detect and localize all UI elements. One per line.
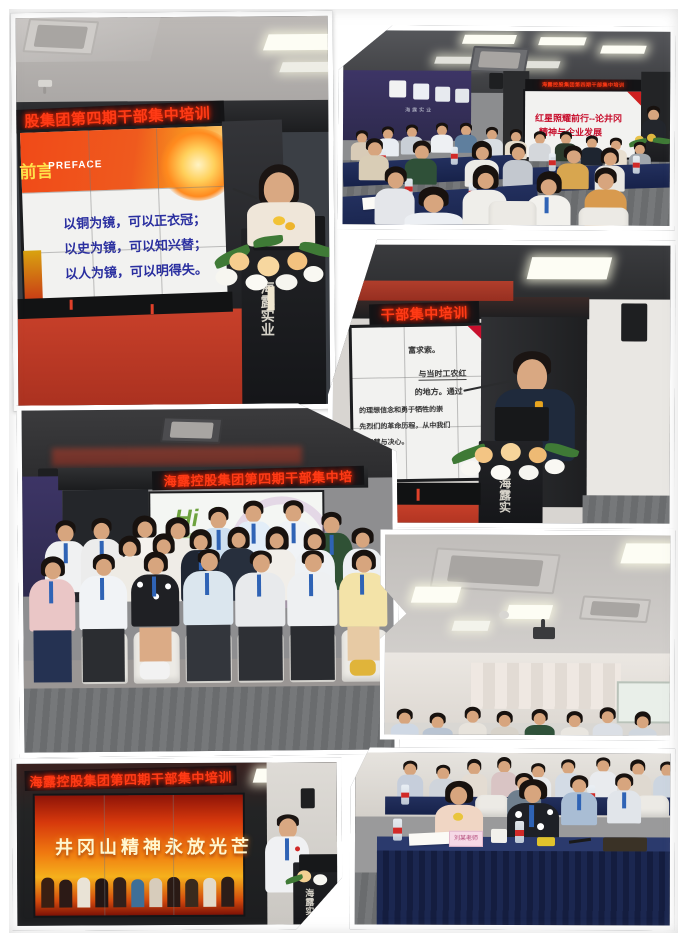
- wall-logo-plate: [413, 84, 429, 100]
- attendee-head: [569, 715, 581, 727]
- lecturer-head: [517, 359, 547, 393]
- water-bottle: [515, 821, 524, 843]
- flower-leaf: [544, 440, 579, 460]
- silhouette-person: [131, 879, 144, 907]
- flower-white: [275, 274, 297, 290]
- attendee-lanyard: [545, 197, 549, 213]
- member-lanyard: [257, 575, 261, 597]
- group-member-seated: [235, 550, 286, 680]
- projection-screen-jinggangshan: 井冈山精神永放光芒: [35, 795, 244, 916]
- stage-marker: [70, 300, 73, 310]
- attendee-head: [637, 716, 649, 728]
- attendee-head: [368, 142, 382, 156]
- led-banner-text: 海露控股集团第四期干部集中培训: [542, 81, 625, 88]
- photo-collage: 股集团第四期干部集中培训 前言 PREFACE 以铜为镜，可以正衣冠； 以史为镜…: [0, 0, 687, 942]
- photo-female-presenter: 股集团第四期干部集中培训 前言 PREFACE 以铜为镜，可以正衣冠； 以史为镜…: [16, 16, 331, 406]
- podium-flower-arrangement: [209, 234, 330, 309]
- attendee: [423, 713, 453, 736]
- wall-speaker: [621, 303, 647, 341]
- ceiling-light: [538, 37, 587, 45]
- water-bottle: [633, 156, 640, 174]
- name-plate-text: 刘某老师: [450, 832, 482, 846]
- dress-flower: [285, 222, 295, 230]
- slide-corner-flag: [627, 92, 641, 106]
- panel-top-left[interactable]: 股集团第四期干部集中培训 前言 PREFACE 以铜为镜，可以正衣冠； 以史为镜…: [11, 11, 336, 411]
- attendee-body: [491, 727, 519, 736]
- led-banner-text: 干部集中培训: [380, 302, 468, 325]
- security-camera-stem: [43, 87, 46, 94]
- phone: [537, 837, 555, 846]
- water-bottle: [401, 785, 409, 805]
- wall-logo-plate: [389, 80, 406, 97]
- wall-speaker: [489, 73, 503, 89]
- slide-line-1: 以铜为镜，可以正衣冠；: [63, 209, 207, 233]
- lecturer-pin: [295, 846, 300, 851]
- photo-classroom-audience: 海露实业 海露控股集团第四期干部集中培训 红星照耀前行--论井冈 精神与企业发展: [342, 30, 670, 226]
- attendee-body: [459, 723, 487, 736]
- panel-bottom-right[interactable]: 刘某老师: [350, 747, 676, 930]
- air-conditioner-vent: [22, 18, 99, 55]
- flower-rose: [257, 256, 279, 276]
- group-member-seated: [183, 549, 234, 681]
- member-legs: [290, 626, 334, 680]
- member-lanyard: [205, 573, 209, 595]
- silhouette-person: [77, 877, 90, 907]
- member-lanyard: [152, 576, 156, 596]
- ceiling-red-glow: [52, 446, 302, 466]
- carpet-floor: [582, 495, 670, 523]
- attendee-head: [617, 777, 631, 791]
- attendee-head: [499, 715, 511, 727]
- group-member-seated: [131, 551, 180, 681]
- silhouette-person: [185, 879, 198, 907]
- attendee-body: [561, 727, 589, 735]
- panel-top-right[interactable]: 海露实业 海露控股集团第四期干部集中培训 红星照耀前行--论井冈 精神与企业发展: [337, 25, 675, 231]
- photo-group: 海露控股集团第四期干部集中培 Hi: [22, 407, 395, 752]
- ceiling-light: [411, 587, 462, 603]
- attendee-lanyard: [622, 792, 626, 808]
- attendee-body: [391, 724, 419, 736]
- attendee-body: [629, 728, 657, 735]
- ceiling-light: [505, 605, 553, 619]
- presenter-female: [245, 164, 320, 245]
- attendee: [629, 711, 657, 735]
- group-member-seated: [29, 556, 76, 682]
- carpet-floor: [24, 679, 395, 752]
- member-head: [270, 533, 284, 548]
- member-legs: [186, 625, 230, 681]
- air-conditioner-vent: [160, 416, 223, 444]
- member-head: [253, 554, 270, 572]
- attendee: [607, 773, 641, 823]
- ceiling-light: [263, 34, 330, 51]
- member-head: [245, 506, 261, 523]
- silhouette-person: [59, 880, 72, 908]
- water-bottle: [549, 153, 556, 171]
- slide-line-2: 与当时工农红: [418, 368, 466, 381]
- chair: [488, 201, 536, 226]
- attendee-body: [404, 212, 462, 225]
- flower-white: [519, 465, 539, 480]
- led-banner-top-right: 海露控股集团第四期干部集中培训: [525, 79, 641, 91]
- photo-conference-room: [385, 535, 671, 736]
- stage-marker: [417, 489, 420, 501]
- flower-leaf: [653, 136, 671, 145]
- attendee-head: [476, 147, 489, 160]
- security-camera-icon: [499, 611, 509, 619]
- stage-marker: [151, 304, 154, 314]
- attendee-head: [388, 172, 404, 188]
- flower-rose: [475, 447, 493, 463]
- member-head: [58, 525, 74, 542]
- flower-white: [313, 874, 327, 885]
- group-member-seated: [79, 554, 128, 682]
- photo-jinggangshan-lecture: 海露控股集团第四期干部集中培训 井冈山精神永放光芒: [17, 762, 338, 926]
- chair: [578, 207, 628, 225]
- flower-white: [303, 266, 323, 282]
- member-head: [308, 534, 322, 549]
- member-legs: [33, 630, 71, 682]
- attendee: [391, 709, 419, 736]
- slide-heading-en: PREFACE: [48, 159, 103, 172]
- polka-dot: [515, 811, 522, 818]
- attendee-head: [604, 153, 617, 166]
- flower-rose: [287, 252, 307, 270]
- video-wall-screen: 前言 PREFACE 以铜为镜，可以正衣冠； 以史为镜，可以知兴替； 以人为镜，…: [20, 126, 230, 311]
- slide-title-jinggangshan: 井冈山精神永放光芒: [55, 833, 253, 860]
- member-head: [305, 554, 322, 572]
- polka-dot: [137, 582, 143, 588]
- silhouette-person: [113, 877, 126, 907]
- member-head: [194, 535, 208, 550]
- flower-ribbon: [268, 286, 275, 310]
- member-lanyard: [309, 574, 313, 596]
- podium-flower-arrangement: [451, 435, 581, 487]
- lecturer-lanyard: [285, 838, 289, 860]
- tea-cup: [491, 829, 507, 843]
- window-blinds: [471, 663, 621, 710]
- screen-seam: [404, 327, 408, 479]
- member-head: [148, 557, 164, 574]
- note-paper: [409, 832, 454, 846]
- air-conditioner-vent: [469, 46, 530, 74]
- flower-white: [461, 461, 481, 476]
- polka-dot: [165, 583, 171, 589]
- attendee: [459, 707, 487, 736]
- security-camera-icon: [38, 80, 52, 87]
- silhouette-person: [221, 877, 234, 907]
- flower-leaf: [285, 874, 304, 885]
- name-plate: 刘某老师: [449, 831, 483, 847]
- ceiling-projector: [533, 627, 555, 639]
- member-legs: [238, 626, 282, 680]
- wall-logo-plate: [435, 87, 450, 102]
- wall-red-glow: [333, 280, 513, 301]
- slide-line-3: 以人为镜，可以明得失。: [65, 258, 209, 282]
- ceiling-light: [279, 62, 330, 73]
- attendee-body: [423, 728, 453, 736]
- wall-speaker: [301, 788, 315, 808]
- member-head: [45, 562, 61, 579]
- flower-white: [491, 465, 511, 480]
- member-legs: [82, 629, 124, 682]
- attendee-body: [593, 723, 623, 735]
- ceiling-light: [527, 257, 613, 279]
- attendee-head: [534, 713, 546, 725]
- panel-bottom-left[interactable]: 海露控股集团第四期干部集中培训 井冈山精神永放光芒: [12, 757, 343, 931]
- slide-people-silhouette: [39, 875, 239, 910]
- slide-line-3: 的地方。通过: [415, 386, 463, 398]
- flower-rose: [229, 252, 249, 270]
- trainee-head: [450, 787, 467, 805]
- attendee-head: [602, 711, 614, 723]
- attendee: [525, 709, 555, 736]
- group-member-seated: [287, 550, 338, 680]
- slide-line-1: 富求索。: [408, 344, 440, 356]
- attendee-head: [572, 779, 586, 793]
- flower-leaf: [253, 235, 284, 248]
- attendee-head: [567, 150, 581, 163]
- water-bottle: [393, 819, 402, 841]
- wall-logo-caption: 海露实业: [405, 106, 433, 113]
- projector-mount: [541, 619, 545, 629]
- ceiling-light: [600, 46, 647, 54]
- silhouette-person: [95, 878, 108, 907]
- member-head: [356, 556, 372, 573]
- silhouette-person: [149, 878, 162, 907]
- attendee-head: [415, 146, 429, 160]
- flower-white: [245, 274, 267, 290]
- member-lanyard: [100, 578, 104, 600]
- member-head: [285, 505, 301, 522]
- attendee: [593, 707, 623, 735]
- podium-flowers: [285, 866, 337, 894]
- silhouette-person: [203, 878, 216, 907]
- ceiling-light: [452, 621, 491, 631]
- member-shoes: [350, 660, 376, 676]
- notebook: [603, 837, 647, 851]
- member-head: [232, 533, 246, 548]
- led-banner-mid-right: 干部集中培训: [369, 301, 480, 326]
- front-table-skirt: [377, 851, 671, 926]
- silhouette-person: [41, 878, 54, 908]
- attendee-lanyard: [577, 794, 581, 810]
- polka-dot: [547, 809, 553, 815]
- trainee-head: [524, 785, 541, 803]
- dress-flower: [273, 216, 285, 225]
- member-head: [93, 523, 109, 540]
- member-lanyard: [49, 581, 53, 603]
- attendee: [561, 711, 589, 735]
- attendee-head: [512, 147, 525, 160]
- attendee: [491, 711, 519, 736]
- attendee-head: [467, 711, 479, 723]
- attendee-head: [598, 173, 614, 189]
- water-bottle: [451, 147, 458, 165]
- member-head: [96, 559, 112, 576]
- trainee-lanyard: [529, 805, 534, 827]
- panel-group-photo[interactable]: 海露控股集团第四期干部集中培 Hi: [16, 402, 399, 757]
- attendee: [561, 775, 597, 825]
- flower-white: [545, 459, 565, 474]
- attendee-head: [541, 179, 557, 195]
- attendee-head: [424, 195, 444, 213]
- flower-rose: [501, 443, 521, 461]
- ceiling-light: [462, 35, 517, 44]
- member-legs: [139, 627, 171, 661]
- attendee-head: [478, 173, 494, 189]
- polka-dot: [537, 823, 544, 830]
- air-conditioner-vent: [579, 595, 651, 623]
- wall-logo-plate: [455, 89, 469, 103]
- member-head: [356, 533, 370, 548]
- slide-line-2: 以史为镜，可以知兴替；: [64, 233, 208, 257]
- photo-trainees-notes: 刘某老师: [355, 752, 671, 925]
- member-head: [201, 553, 218, 571]
- slide-line-4: 的理想信念和勇于牺牲的崇: [359, 404, 443, 415]
- member-legs: [347, 627, 379, 661]
- flower-white: [215, 269, 237, 286]
- blouse-flower: [453, 813, 463, 821]
- member-lanyard: [360, 575, 364, 595]
- slide-title: 红星照耀前行--论井冈: [535, 111, 622, 124]
- attendee-body: [525, 725, 555, 736]
- flower-rose: [529, 447, 547, 463]
- member-shoes: [140, 661, 170, 679]
- ceiling-light: [620, 543, 670, 563]
- attendee-foreground: [404, 186, 462, 225]
- panel-conference-room[interactable]: [380, 529, 676, 740]
